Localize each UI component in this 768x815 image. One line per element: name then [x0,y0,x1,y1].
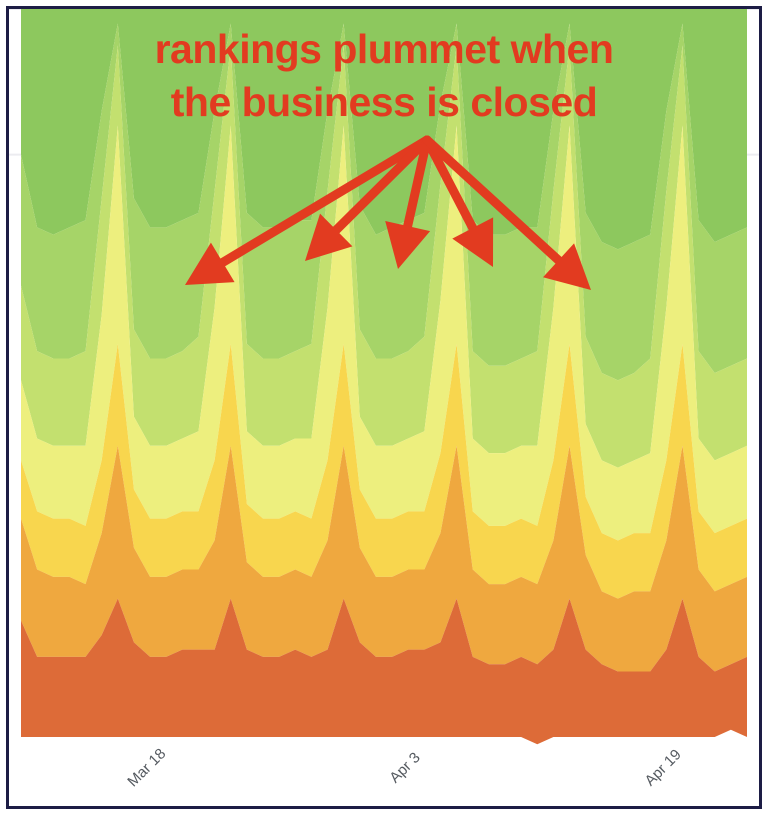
stacked-area-chart[interactable]: Mar 18Apr 3Apr 19 [9,9,759,806]
chart-stage: Mar 18Apr 3Apr 19 rankings plummet when … [9,9,759,806]
area-series-group [21,9,747,744]
chart-screenshot: Mar 18Apr 3Apr 19 rankings plummet when … [0,0,768,815]
chart-frame: Mar 18Apr 3Apr 19 rankings plummet when … [6,6,762,809]
